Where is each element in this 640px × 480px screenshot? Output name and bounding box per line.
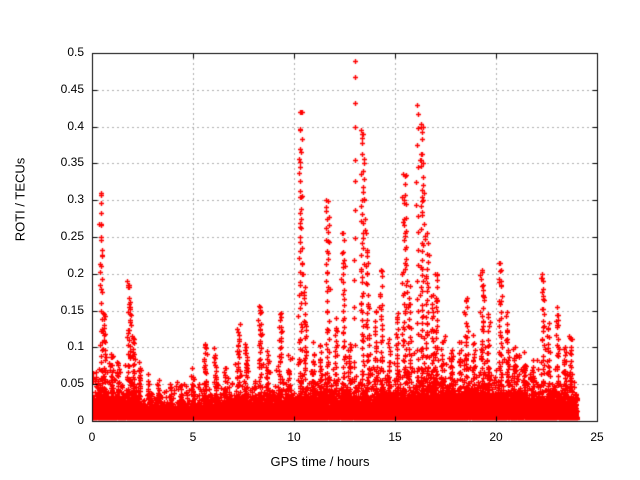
scatter-plot-canvas bbox=[0, 0, 640, 480]
y-tick-label: 0.15 bbox=[0, 303, 84, 317]
x-tick-label: 10 bbox=[264, 430, 324, 444]
y-tick-label: 0.05 bbox=[0, 376, 84, 390]
figure: Day 058 of 2023, Rate Of TEC Index for r… bbox=[0, 0, 640, 480]
x-tick-label: 0 bbox=[62, 430, 122, 444]
x-tick-label: 5 bbox=[163, 430, 223, 444]
x-tick-label: 20 bbox=[466, 430, 526, 444]
x-axis-label: GPS time / hours bbox=[0, 454, 640, 469]
y-tick-label: 0 bbox=[0, 413, 84, 427]
y-tick-label: 0.1 bbox=[0, 339, 84, 353]
y-tick-label: 0.25 bbox=[0, 229, 84, 243]
y-tick-label: 0.2 bbox=[0, 266, 84, 280]
x-tick-label: 15 bbox=[365, 430, 425, 444]
plot-area bbox=[0, 0, 640, 480]
y-tick-label: 0.4 bbox=[0, 119, 84, 133]
y-tick-label: 0.3 bbox=[0, 192, 84, 206]
x-tick-label: 25 bbox=[567, 430, 627, 444]
y-tick-label: 0.45 bbox=[0, 82, 84, 96]
y-tick-label: 0.35 bbox=[0, 155, 84, 169]
y-tick-label: 0.5 bbox=[0, 45, 84, 59]
